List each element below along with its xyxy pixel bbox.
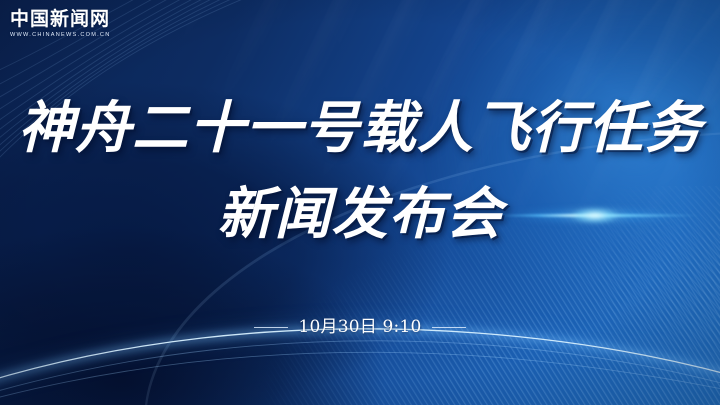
date-time-bar: 10月30日 9:10 — [0, 316, 720, 338]
date-time-text: 10月30日 9:10 — [298, 316, 421, 338]
chinanews-logo[interactable]: 中国新闻网 WWW.CHINANEWS.COM.CN — [10, 9, 160, 39]
title-line-1: 神舟二十一号载人飞行任务 — [0, 96, 720, 162]
logo-name-cn: 中国新闻网 — [10, 9, 160, 29]
date-rule-left — [254, 327, 288, 328]
poster-title: 神舟二十一号载人飞行任务 新闻发布会 — [0, 96, 720, 248]
logo-url: WWW.CHINANEWS.COM.CN — [10, 31, 160, 39]
news-poster: 中国新闻网 WWW.CHINANEWS.COM.CN 神舟二十一号载人飞行任务 … — [0, 0, 720, 405]
date-rule-right — [432, 327, 466, 328]
title-line-2: 新闻发布会 — [0, 182, 720, 248]
